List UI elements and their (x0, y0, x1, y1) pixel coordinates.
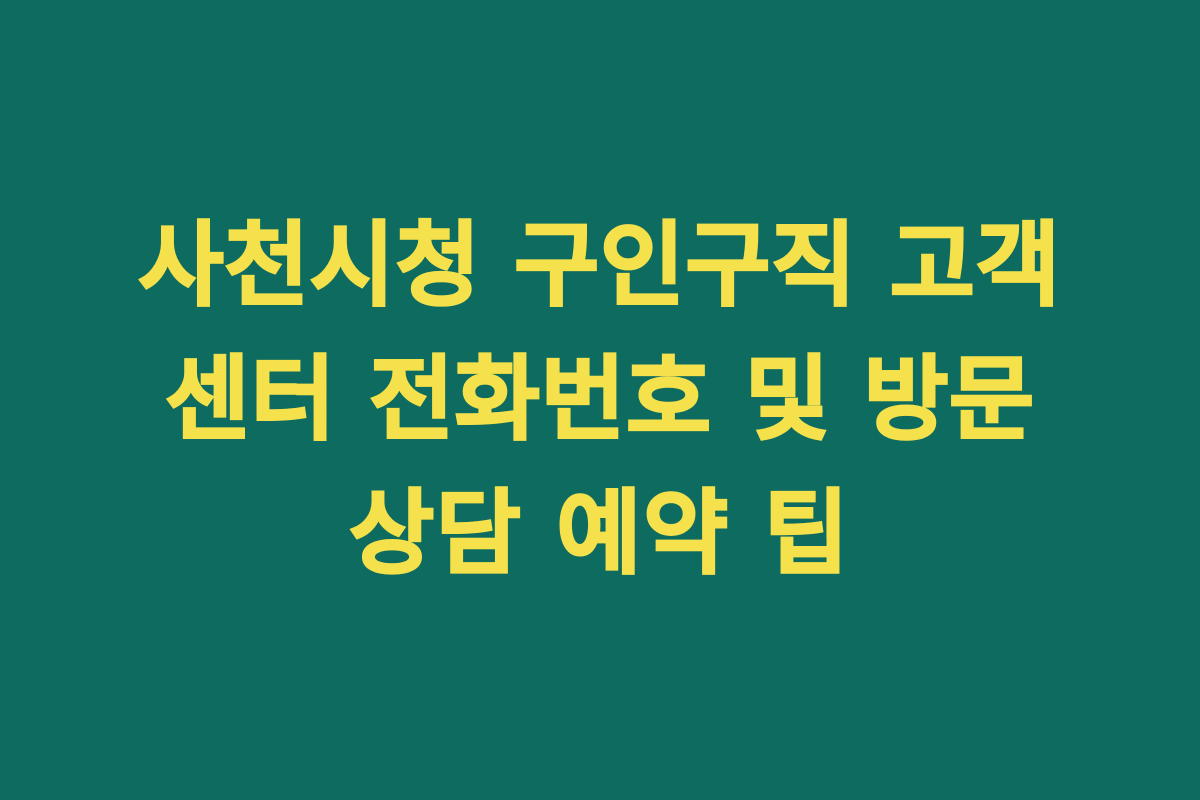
headline-line-1: 사천시청 구인구직 고객 (40, 199, 1160, 333)
headline-block: 사천시청 구인구직 고객 센터 전화번호 및 방문 상담 예약 팁 (0, 199, 1200, 601)
thumbnail-card: 사천시청 구인구직 고객 센터 전화번호 및 방문 상담 예약 팁 (0, 0, 1200, 800)
headline-line-2: 센터 전화번호 및 방문 (40, 333, 1160, 467)
headline-line-3: 상담 예약 팁 (40, 467, 1160, 601)
